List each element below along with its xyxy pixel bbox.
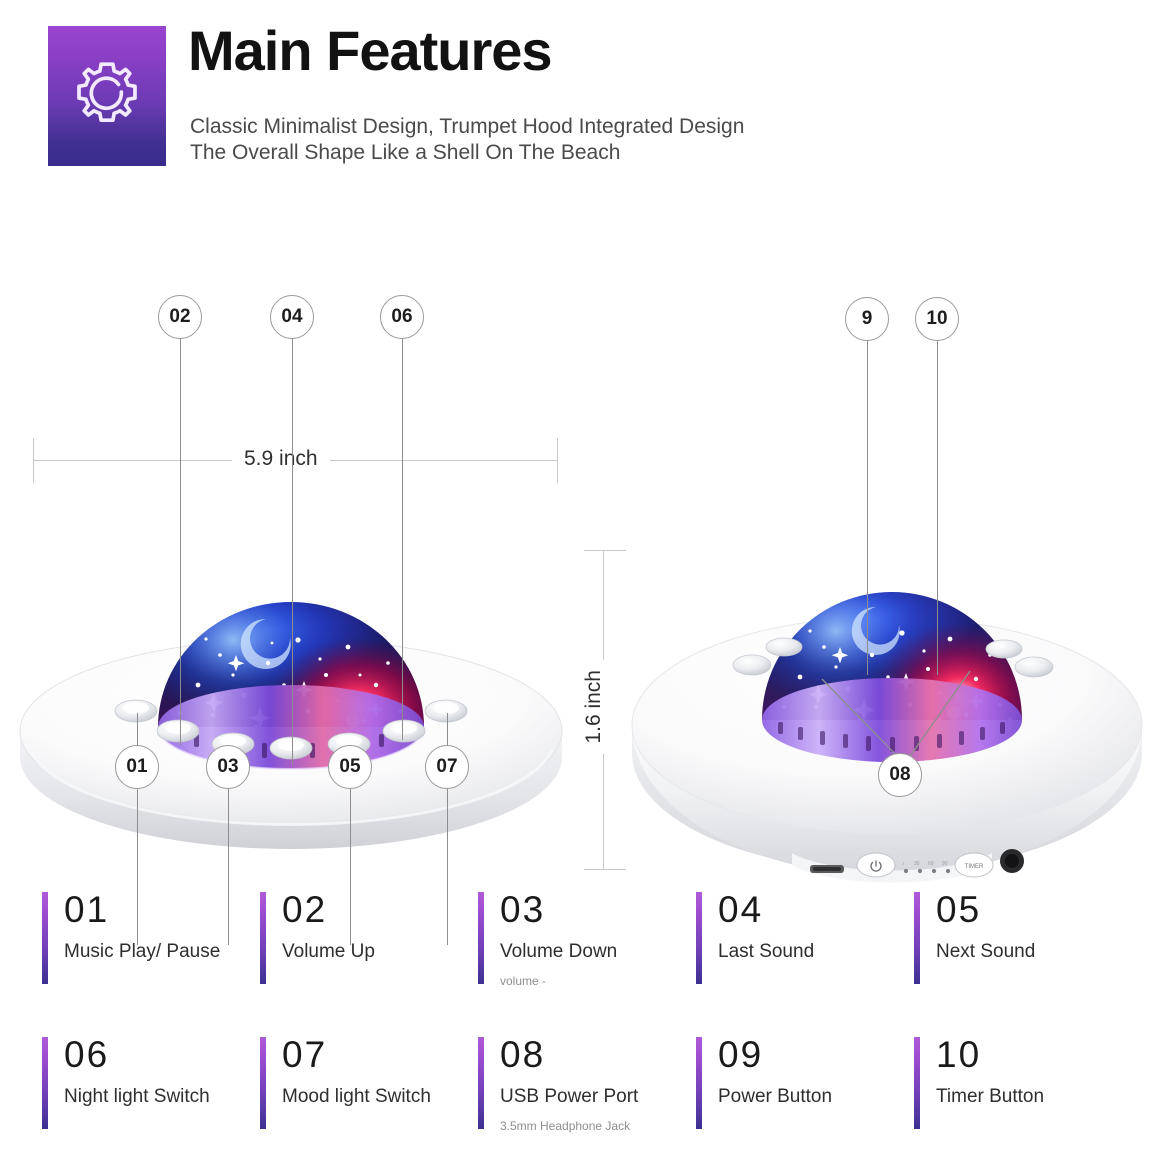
legend-item-09[interactable]: 09 Power Button — [696, 1033, 914, 1153]
svg-text:TIMER: TIMER — [965, 864, 984, 870]
leader-line-04 — [292, 335, 293, 765]
legend-number: 02 — [282, 888, 478, 932]
legend-item-02[interactable]: 02 Volume Up — [260, 888, 478, 1033]
legend-accent-bar — [42, 1037, 48, 1129]
legend-number: 01 — [64, 888, 260, 932]
page-header: Main Features Classic Minimalist Design,… — [48, 26, 1118, 176]
legend-accent-bar — [696, 1037, 702, 1129]
legend-label: Mood light Switch — [282, 1086, 478, 1108]
subtitle-line-1: Classic Minimalist Design, Trumpet Hood … — [190, 114, 744, 140]
legend-item-03[interactable]: 03 Volume Down volume - — [478, 888, 696, 1033]
legend-sublabel: volume - — [500, 974, 696, 988]
legend-label: Music Play/ Pause — [64, 941, 260, 963]
page-title: Main Features — [188, 22, 552, 81]
legend-accent-bar — [914, 892, 920, 984]
legend-number: 08 — [500, 1033, 696, 1077]
leader-line-10 — [937, 335, 938, 675]
legend-accent-bar — [42, 892, 48, 984]
svg-text:90: 90 — [942, 861, 948, 867]
callout-03[interactable]: 03 — [206, 745, 250, 789]
dimension-cap-left — [33, 438, 34, 483]
legend-sublabel: 3.5mm Headphone Jack — [500, 1119, 696, 1133]
callout-02[interactable]: 02 — [158, 295, 202, 339]
legend-accent-bar — [696, 892, 702, 984]
legend-label: Power Button — [718, 1086, 914, 1108]
callout-10[interactable]: 10 — [915, 297, 959, 341]
callout-05[interactable]: 05 — [328, 745, 372, 789]
gear-icon — [48, 26, 166, 166]
legend-item-06[interactable]: 06 Night light Switch — [42, 1033, 260, 1153]
callout-04[interactable]: 04 — [270, 295, 314, 339]
legend-item-10[interactable]: 10 Timer Button — [914, 1033, 1132, 1153]
legend-item-04[interactable]: 04 Last Sound — [696, 888, 914, 1033]
callout-07[interactable]: 07 — [425, 745, 469, 789]
legend-item-05[interactable]: 05 Next Sound — [914, 888, 1132, 1033]
subtitle-line-2: The Overall Shape Like a Shell On The Be… — [190, 140, 744, 166]
legend-number: 10 — [936, 1033, 1132, 1077]
legend-number: 06 — [64, 1033, 260, 1077]
legend-label: Next Sound — [936, 941, 1132, 963]
dimension-label-width: 5.9 inch — [232, 447, 330, 471]
legend-label: USB Power Port — [500, 1086, 696, 1108]
callout-06[interactable]: 06 — [380, 295, 424, 339]
legend-label: Volume Down — [500, 941, 696, 963]
svg-text:30: 30 — [914, 861, 920, 867]
legend-label: Timer Button — [936, 1086, 1132, 1108]
legend-number: 07 — [282, 1033, 478, 1077]
legend-label: Night light Switch — [64, 1086, 260, 1108]
callout-9[interactable]: 9 — [845, 297, 889, 341]
legend-label: Last Sound — [718, 941, 914, 963]
legend-number: 09 — [718, 1033, 914, 1077]
legend-accent-bar — [260, 892, 266, 984]
dimension-cap-right — [557, 438, 558, 483]
star-projector-front-view — [8, 535, 574, 865]
page-subtitle: Classic Minimalist Design, Trumpet Hood … — [190, 114, 744, 166]
legend-item-07[interactable]: 07 Mood light Switch — [260, 1033, 478, 1153]
leader-line-02 — [180, 335, 181, 745]
callout-08[interactable]: 08 — [878, 753, 922, 797]
feature-legend: 01 Music Play/ Pause 02 Volume Up 03 Vol… — [42, 888, 1132, 1138]
legend-accent-bar — [478, 892, 484, 984]
callout-01[interactable]: 01 — [115, 745, 159, 789]
svg-text:60: 60 — [928, 861, 934, 867]
legend-accent-bar — [478, 1037, 484, 1129]
product-diagram: 5.9 inch 1.6 inch — [0, 205, 1164, 830]
leader-line-9 — [867, 335, 868, 675]
leader-line-06 — [402, 335, 403, 740]
legend-accent-bar — [914, 1037, 920, 1129]
legend-accent-bar — [260, 1037, 266, 1129]
legend-item-08[interactable]: 08 USB Power Port 3.5mm Headphone Jack — [478, 1033, 696, 1153]
legend-label: Volume Up — [282, 941, 478, 963]
dimension-label-height: 1.6 inch — [582, 660, 606, 754]
